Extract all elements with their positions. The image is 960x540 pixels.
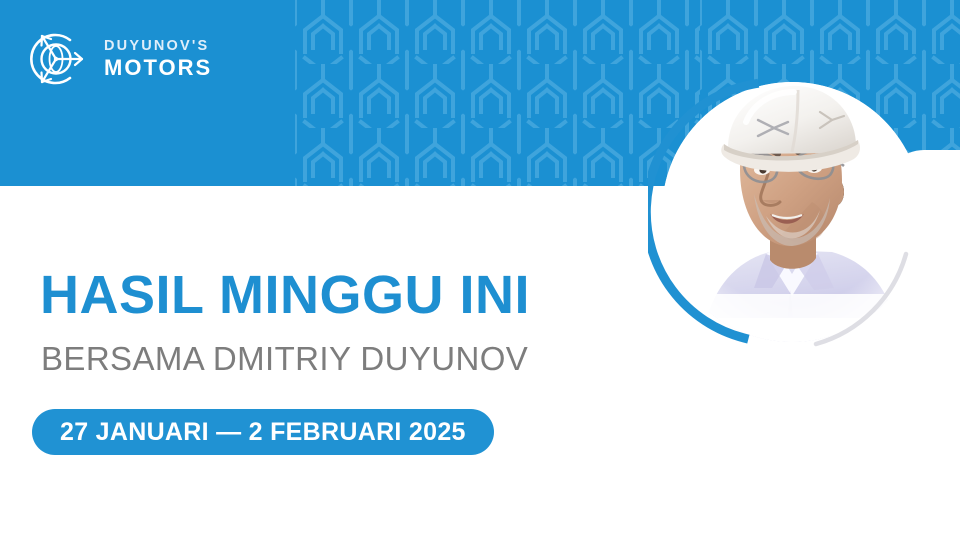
- date-range-label: 27 JANUARI — 2 FEBRUARI 2025: [60, 418, 466, 447]
- page-title: HASIL MINGGU INI: [40, 268, 530, 322]
- page-subtitle: BERSAMA DMITRIY DUYUNOV: [41, 342, 528, 375]
- date-range-badge: 27 JANUARI — 2 FEBRUARI 2025: [32, 409, 494, 455]
- brand-name-line2: MOTORS: [104, 57, 212, 79]
- brand-name-line1: DUYUNOV'S: [104, 39, 212, 54]
- portrait-medallion: [648, 68, 936, 356]
- duyunov-motors-gyroscope-logo-icon: [26, 26, 92, 92]
- portrait-accent-arcs: [648, 68, 936, 356]
- brand-wordmark: DUYUNOV'S MOTORS: [104, 39, 212, 79]
- brand-logo[interactable]: DUYUNOV'S MOTORS: [26, 26, 212, 92]
- banner-canvas: DUYUNOV'S MOTORS: [0, 0, 960, 540]
- blue-accent-arc: [648, 84, 754, 338]
- gray-accent-arc: [816, 254, 906, 344]
